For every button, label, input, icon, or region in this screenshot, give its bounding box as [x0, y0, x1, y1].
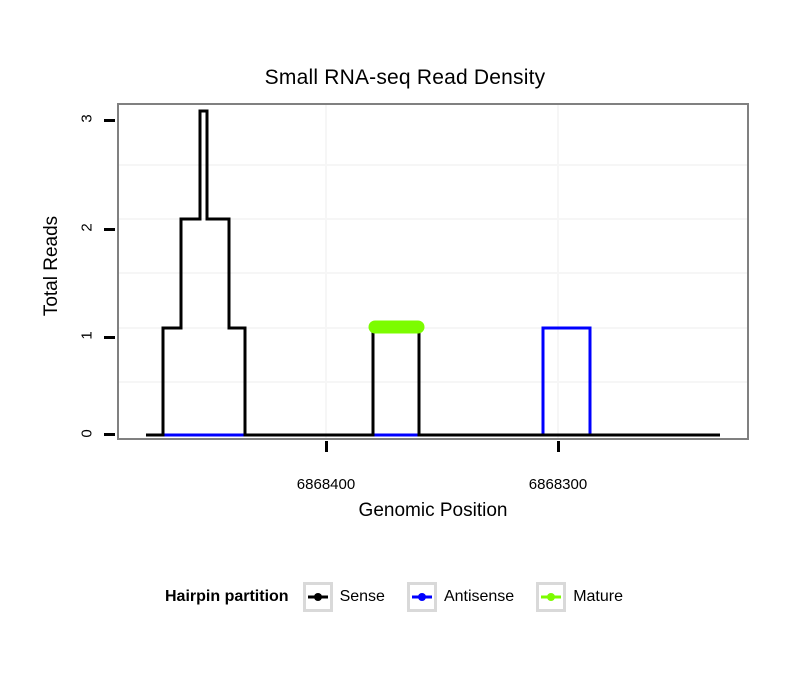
plot-canvas [119, 105, 747, 438]
y-axis-title-text: Total Reads [41, 166, 63, 366]
x-tick-label-6868300: 6868300 [498, 476, 618, 493]
x-tick-label-6868400: 6868400 [266, 476, 386, 493]
y-tick-label-3: 3 [79, 104, 96, 134]
y-tick-mark-0 [104, 433, 115, 436]
x-tick-mark-6868300 [557, 441, 560, 452]
legend-key-antisense [407, 582, 437, 612]
page-title: Small RNA-seq Read Density [0, 66, 810, 90]
y-tick-label-2: 2 [79, 213, 96, 243]
plot-panel [117, 103, 749, 440]
legend-label-antisense: Antisense [444, 588, 514, 606]
legend-title: Hairpin partition [165, 588, 289, 606]
x-tick-mark-6868400 [325, 441, 328, 452]
legend-entry-sense[interactable]: Sense [303, 582, 403, 612]
y-tick-mark-2 [104, 228, 115, 231]
y-axis-title: Total Reads [40, 160, 64, 277]
y-tick-mark-1 [104, 336, 115, 339]
legend-entry-mature[interactable]: Mature [536, 582, 641, 612]
grid-lines [119, 105, 747, 438]
y-tick-mark-3 [104, 119, 115, 122]
legend-key-sense [303, 582, 333, 612]
legend: Hairpin partition Sense Antisense [0, 582, 810, 612]
legend-key-mature [536, 582, 566, 612]
legend-label-sense: Sense [340, 588, 385, 606]
y-tick-label-0: 0 [79, 419, 96, 449]
chart-root: Small RNA-seq Read Density Total Reads 3… [0, 0, 810, 690]
x-axis-title: Genomic Position [117, 500, 749, 522]
legend-entry-antisense[interactable]: Antisense [407, 582, 532, 612]
y-tick-label-1: 1 [79, 321, 96, 351]
legend-label-mature: Mature [573, 588, 623, 606]
